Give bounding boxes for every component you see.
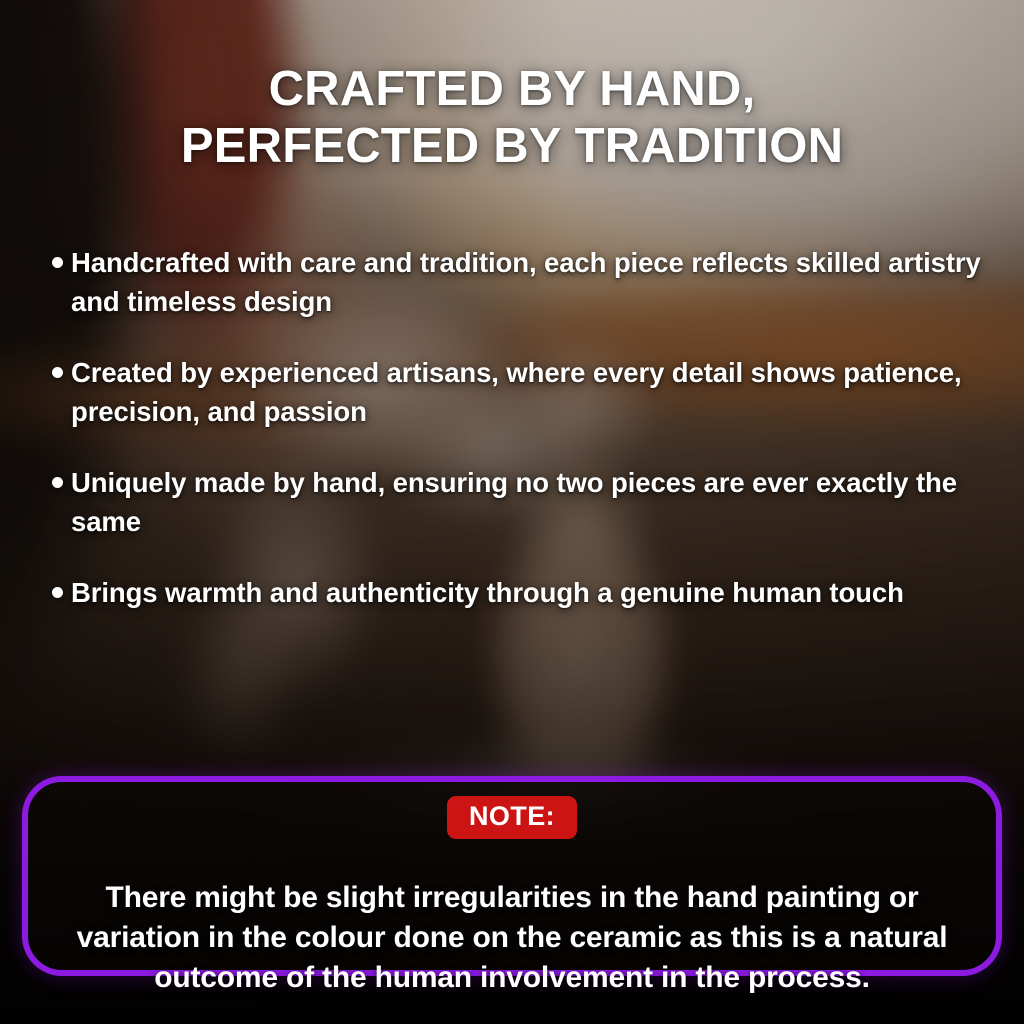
note-callout-box: NOTE: There might be slight irregulariti…	[22, 776, 1002, 976]
list-item: Handcrafted with care and tradition, eac…	[52, 243, 984, 321]
bullet-dot-icon	[52, 477, 63, 488]
status-badge: NOTE:	[447, 796, 577, 839]
bullet-dot-icon	[52, 257, 63, 268]
bullet-text: Handcrafted with care and tradition, eac…	[71, 243, 984, 321]
feature-bullet-list: Handcrafted with care and tradition, eac…	[52, 243, 984, 612]
bullet-dot-icon	[52, 587, 63, 598]
list-item: Created by experienced artisans, where e…	[52, 353, 984, 431]
note-badge-wrapper: NOTE:	[28, 796, 996, 839]
content-layer: CRAFTED BY HAND, PERFECTED BY TRADITION …	[0, 0, 1024, 1024]
headline-line-1: CRAFTED BY HAND,	[40, 61, 984, 118]
list-item: Brings warmth and authenticity through a…	[52, 573, 984, 612]
bullet-text: Created by experienced artisans, where e…	[71, 353, 984, 431]
promo-graphic: CRAFTED BY HAND, PERFECTED BY TRADITION …	[0, 0, 1024, 1024]
note-body-text: There might be slight irregularities in …	[42, 878, 982, 998]
bullet-text: Brings warmth and authenticity through a…	[71, 573, 904, 612]
headline-line-2: PERFECTED BY TRADITION	[40, 118, 984, 175]
list-item: Uniquely made by hand, ensuring no two p…	[52, 463, 984, 541]
page-title: CRAFTED BY HAND, PERFECTED BY TRADITION	[0, 61, 1024, 175]
bullet-dot-icon	[52, 367, 63, 378]
bullet-text: Uniquely made by hand, ensuring no two p…	[71, 463, 984, 541]
